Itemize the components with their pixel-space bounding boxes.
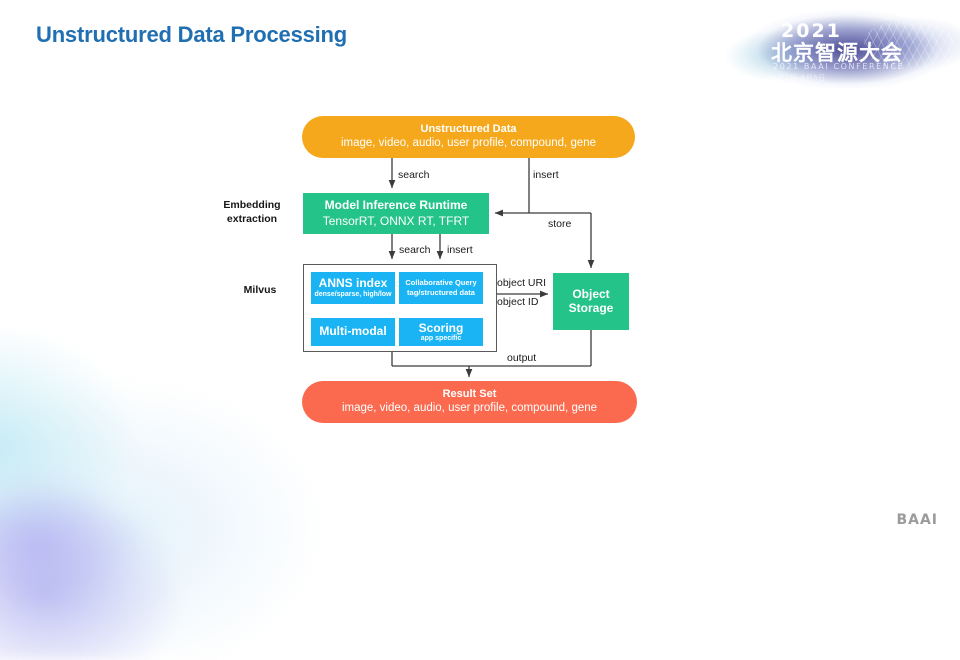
edge-label-search-mid: search xyxy=(399,244,431,256)
cell-collaborative-query-title: Collaborative Query xyxy=(405,279,476,287)
edge-label-search-top: search xyxy=(398,169,430,181)
cell-anns-index-subtitle: dense/sparse, high/low xyxy=(314,291,391,299)
cell-anns-index-title: ANNS index xyxy=(319,277,388,290)
label-embedding-extraction-line1: Embedding xyxy=(206,198,298,212)
cell-multi-modal[interactable]: Multi-modal xyxy=(311,318,395,346)
cell-collaborative-query-subtitle: tag/structured data xyxy=(407,289,475,297)
node-unstructured-data[interactable]: Unstructured Data image, video, audio, u… xyxy=(302,116,635,158)
cell-scoring-subtitle: app specific xyxy=(421,335,461,343)
node-unstructured-data-title: Unstructured Data xyxy=(421,123,517,136)
edge-label-insert-mid: insert xyxy=(447,244,473,256)
edge-label-insert-top: insert xyxy=(533,169,559,181)
label-embedding-extraction: Embedding extraction xyxy=(206,198,298,226)
node-unstructured-data-subtitle: image, video, audio, user profile, compo… xyxy=(341,137,596,151)
label-milvus: Milvus xyxy=(222,283,298,297)
node-object-storage-title-line1: Object xyxy=(572,288,609,302)
node-result-set-subtitle: image, video, audio, user profile, compo… xyxy=(342,402,597,416)
edge-label-object-id: object ID xyxy=(497,296,538,308)
architecture-diagram: Unstructured Data image, video, audio, u… xyxy=(0,0,960,540)
label-embedding-extraction-line2: extraction xyxy=(206,212,298,226)
edge-label-output: output xyxy=(507,352,536,364)
node-model-inference-runtime-title: Model Inference Runtime xyxy=(325,199,468,213)
cell-anns-index[interactable]: ANNS index dense/sparse, high/low xyxy=(311,272,395,304)
node-model-inference-runtime-subtitle: TensorRT, ONNX RT, TFRT xyxy=(323,214,469,228)
cell-scoring-title: Scoring xyxy=(419,322,464,335)
cell-collaborative-query[interactable]: Collaborative Query tag/structured data xyxy=(399,272,483,304)
baai-watermark: BAAI xyxy=(896,512,938,528)
node-result-set-title: Result Set xyxy=(443,388,497,401)
cell-scoring[interactable]: Scoring app specific xyxy=(399,318,483,346)
node-result-set[interactable]: Result Set image, video, audio, user pro… xyxy=(302,381,637,423)
cell-multi-modal-title: Multi-modal xyxy=(319,325,386,338)
edge-label-store: store xyxy=(548,218,571,230)
node-object-storage[interactable]: Object Storage xyxy=(553,273,629,330)
node-model-inference-runtime[interactable]: Model Inference Runtime TensorRT, ONNX R… xyxy=(303,193,489,234)
edge-label-object-uri: object URI xyxy=(497,277,546,289)
node-object-storage-title-line2: Storage xyxy=(569,302,614,316)
